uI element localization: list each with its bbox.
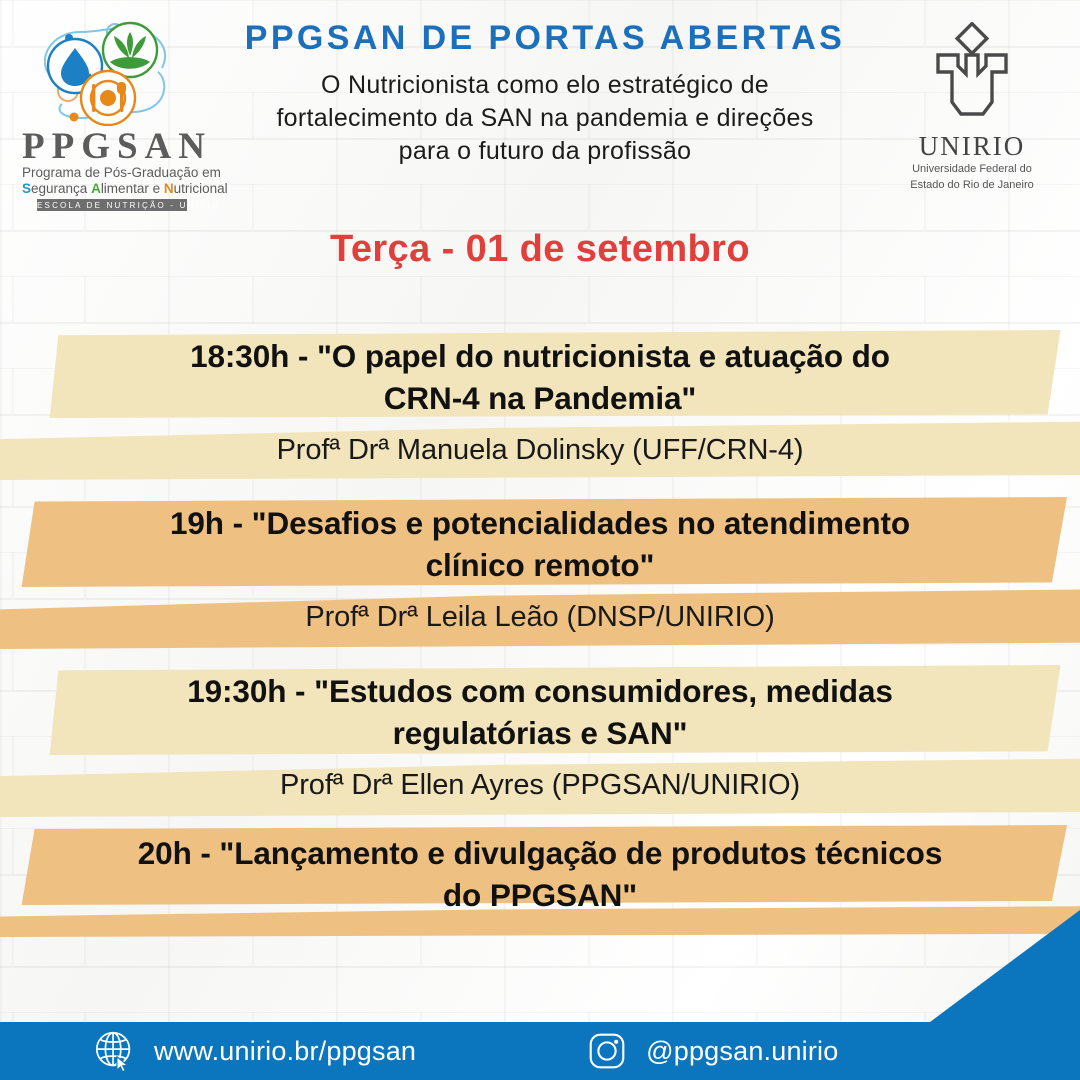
- ppgsan-seguranca-text: egurança: [31, 181, 91, 196]
- session-title-line-2: regulatórias e SAN": [70, 713, 1010, 755]
- poster-subtitle: O Nutricionista como elo estratégico de …: [195, 69, 895, 168]
- ppgsan-nutricional-text: utricional: [174, 181, 228, 196]
- event-poster: PPGSAN Programa de Pós-Graduação em Segu…: [0, 0, 1080, 1080]
- unirio-logo: UNIRIO Universidade Federal do Estado do…: [892, 22, 1052, 192]
- ppgsan-logo-icons: [22, 18, 202, 126]
- unirio-emblem-icon: [920, 22, 1024, 126]
- ppgsan-alimentar-text: limentar e: [101, 181, 164, 196]
- ppgsan-school-bar: ESCOLA DE NUTRIÇÃO - UNIRIO: [37, 199, 187, 211]
- session-title-line-2: do PPGSAN": [40, 875, 1040, 917]
- session-title-line-1: 19h - "Desafios e potencialidades no ate…: [70, 503, 1010, 545]
- unirio-wordmark: UNIRIO: [892, 133, 1052, 160]
- website-url: www.unirio.br/ppgsan: [154, 1036, 416, 1067]
- subtitle-line-1: O Nutricionista como elo estratégico de: [195, 69, 895, 102]
- session-speaker: Profª Drª Ellen Ayres (PPGSAN/UNIRIO): [0, 755, 1080, 803]
- session-title-line-1: 20h - "Lançamento e divulgação de produt…: [40, 833, 1040, 875]
- session-speaker: Profª Drª Leila Leão (DNSP/UNIRIO): [0, 587, 1080, 635]
- session-title: 19h - "Desafios e potencialidades no ate…: [0, 483, 1080, 587]
- poster-footer: www.unirio.br/ppgsan @ppgsan.unirio: [0, 1022, 1080, 1080]
- session-list: 18:30h - "O papel do nutricionista e atu…: [0, 318, 1080, 939]
- website-link[interactable]: www.unirio.br/ppgsan: [92, 1028, 416, 1074]
- session-title: 20h - "Lançamento e divulgação de produt…: [0, 819, 1080, 917]
- ppgsan-letter-n: N: [164, 181, 174, 196]
- session-speaker: Profª Drª Manuela Dolinsky (UFF/CRN-4): [0, 420, 1080, 468]
- ppgsan-emblem-icon: [22, 18, 202, 126]
- session-title-line-2: CRN-4 na Pandemia": [70, 378, 1010, 420]
- ppgsan-letter-s: S: [22, 181, 31, 196]
- instagram-handle: @ppgsan.unirio: [646, 1036, 838, 1067]
- session-item: 19h - "Desafios e potencialidades no ate…: [0, 483, 1080, 651]
- session-title: 19:30h - "Estudos com consumidores, medi…: [0, 651, 1080, 755]
- ppgsan-logo: PPGSAN Programa de Pós-Graduação em Segu…: [22, 18, 202, 193]
- subtitle-line-3: para o futuro da profissão: [195, 135, 895, 168]
- unirio-sub-line1: Universidade Federal do: [892, 163, 1052, 176]
- session-item: 20h - "Lançamento e divulgação de produt…: [0, 819, 1080, 939]
- instagram-icon: [584, 1028, 630, 1074]
- session-title-line-1: 19:30h - "Estudos com consumidores, medi…: [70, 671, 1010, 713]
- session-title-line-1: 18:30h - "O papel do nutricionista e atu…: [70, 336, 1010, 378]
- session-title: 18:30h - "O papel do nutricionista e atu…: [0, 318, 1080, 420]
- subtitle-line-2: fortalecimento da SAN na pandemia e dire…: [195, 102, 895, 135]
- ppgsan-wordmark: PPGSAN: [22, 128, 202, 165]
- session-item: 18:30h - "O papel do nutricionista e atu…: [0, 318, 1080, 483]
- ppgsan-sub-line1: Programa de Pós-Graduação em: [22, 165, 202, 181]
- instagram-link[interactable]: @ppgsan.unirio: [584, 1028, 838, 1074]
- globe-icon: [92, 1028, 138, 1074]
- ppgsan-letter-a: A: [91, 181, 101, 196]
- poster-header: PPGSAN Programa de Pós-Graduação em Segu…: [0, 0, 1080, 200]
- session-item: 19:30h - "Estudos com consumidores, medi…: [0, 651, 1080, 819]
- ppgsan-sub-line2: Segurança Alimentar e Nutricional: [22, 181, 202, 197]
- poster-main-title: PPGSAN DE PORTAS ABERTAS: [195, 20, 895, 57]
- session-title-line-2: clínico remoto": [70, 545, 1010, 587]
- title-block: PPGSAN DE PORTAS ABERTAS O Nutricionista…: [195, 20, 895, 168]
- event-date: Terça - 01 de setembro: [0, 228, 1080, 271]
- unirio-sub-line2: Estado do Rio de Janeiro: [892, 179, 1052, 192]
